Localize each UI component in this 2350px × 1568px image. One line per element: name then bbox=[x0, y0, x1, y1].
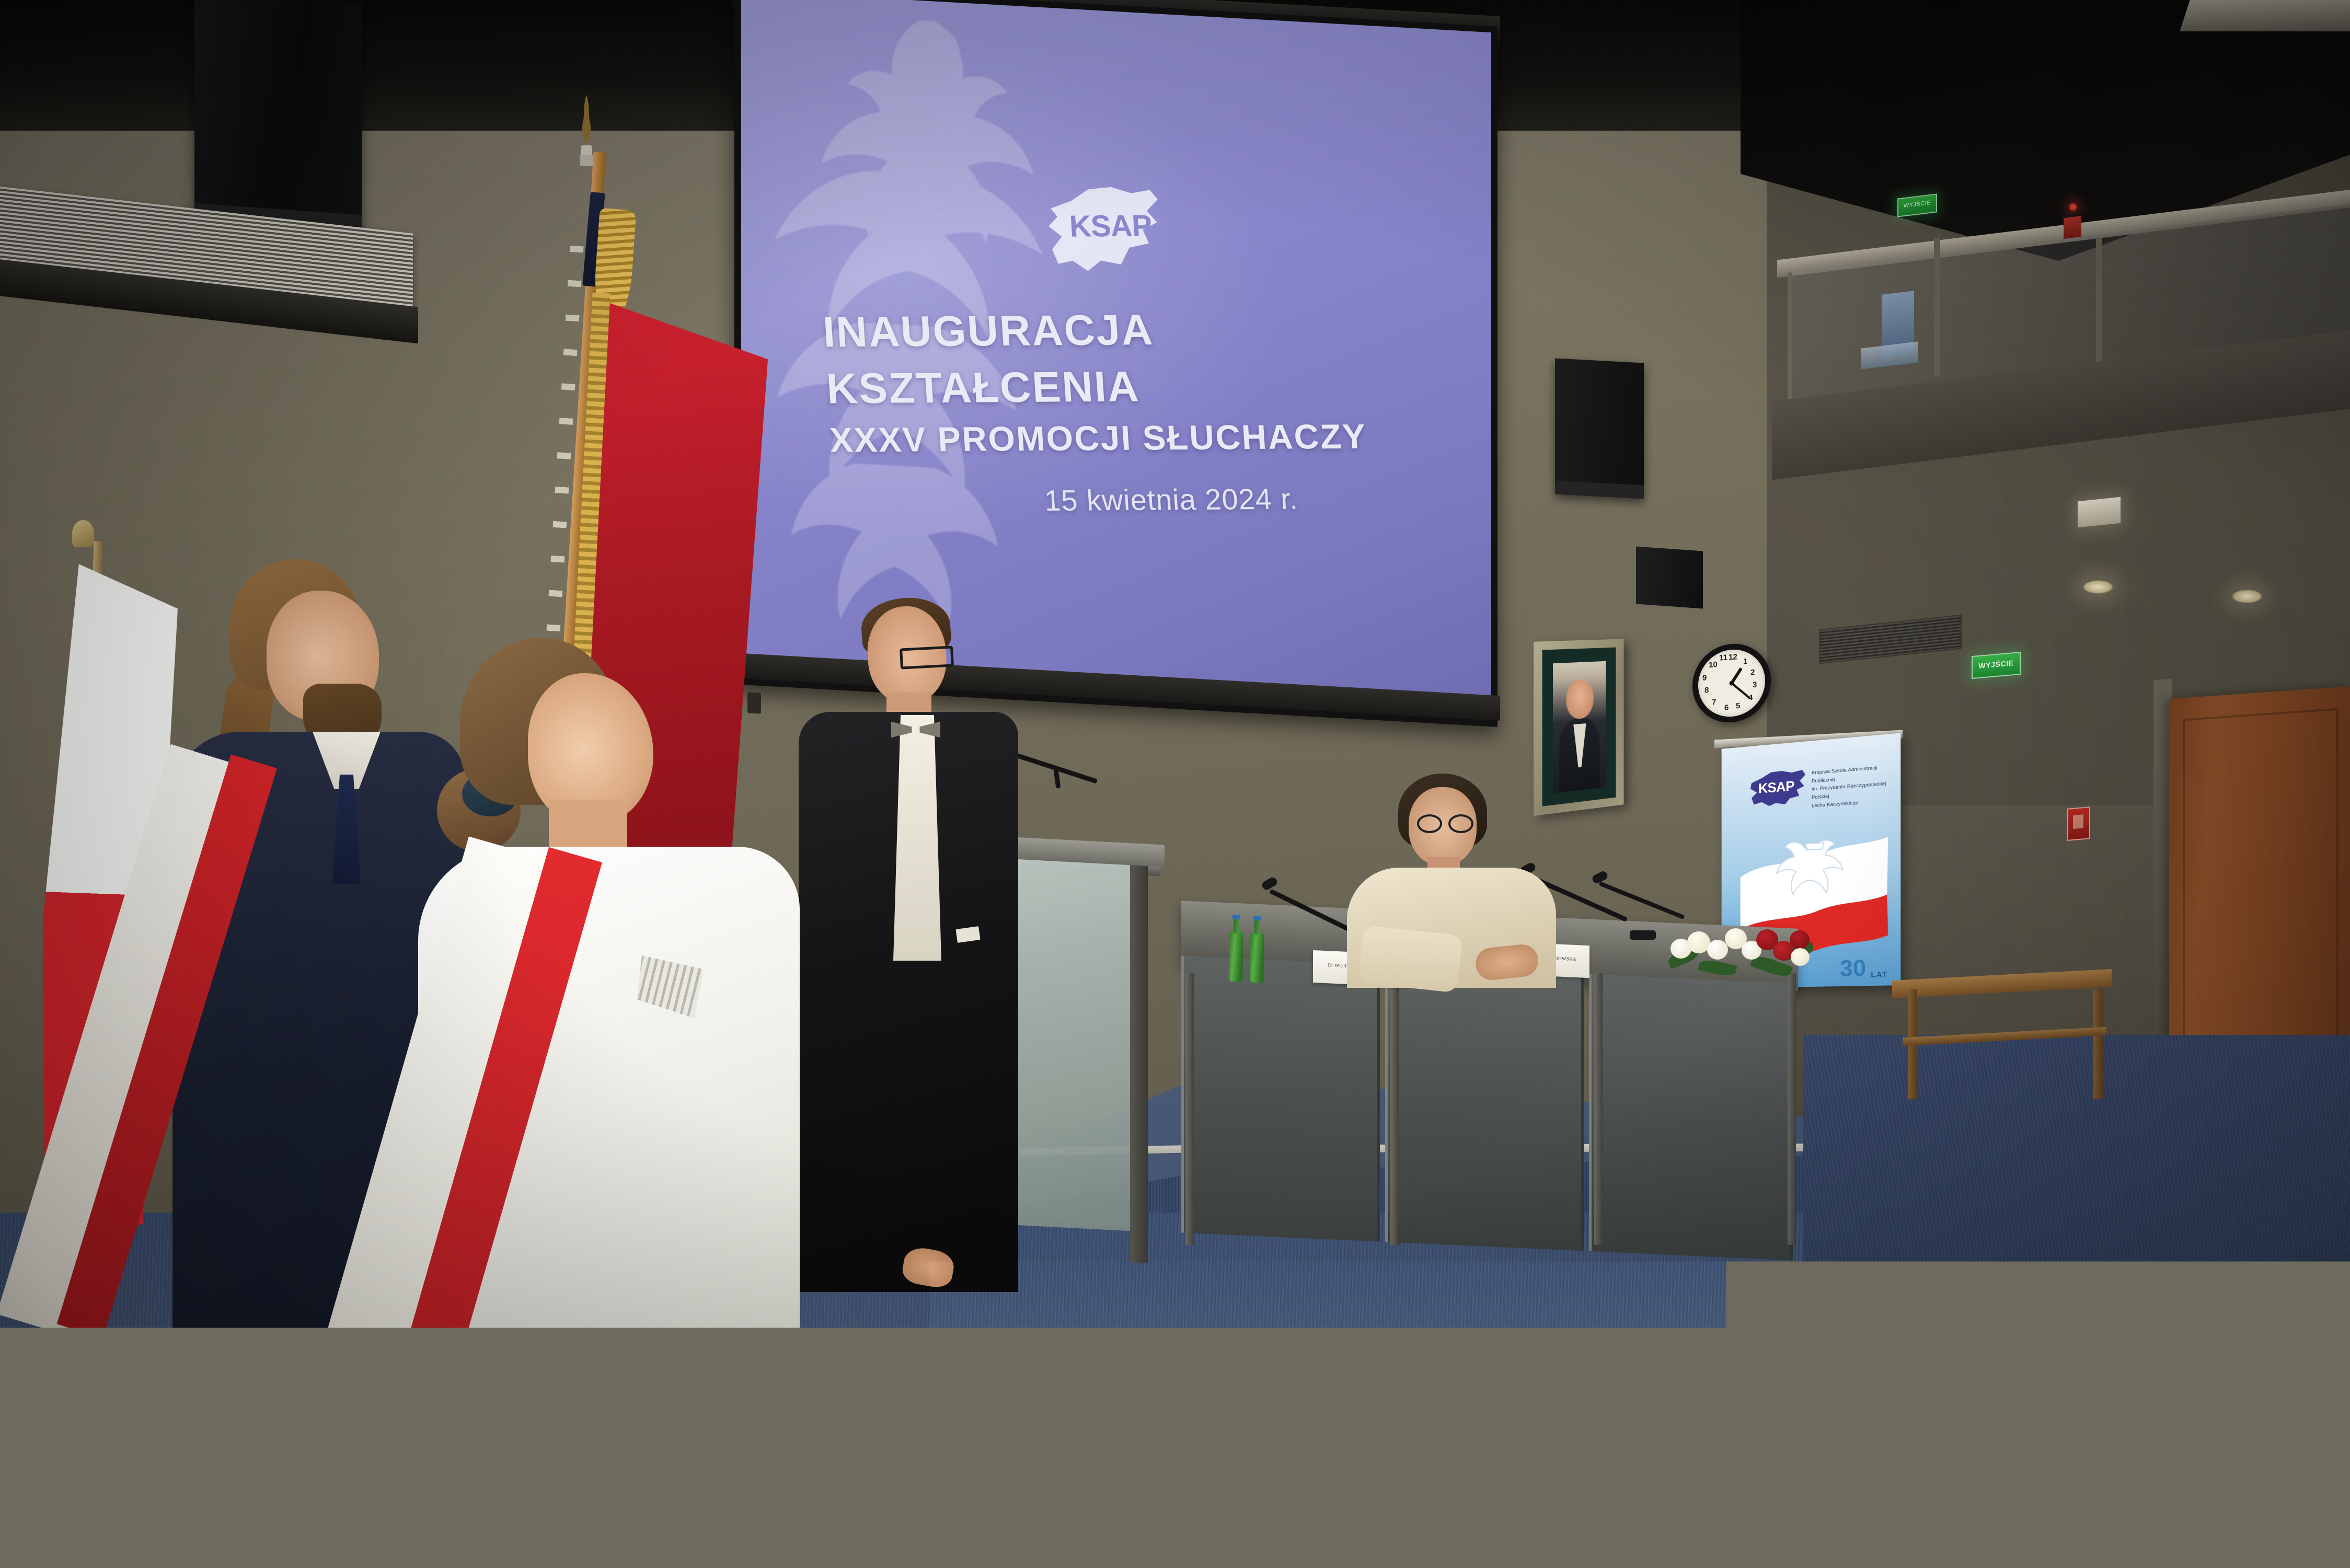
person-speaker-at-lectern bbox=[784, 601, 1030, 1291]
wall-speaker-left bbox=[194, 0, 362, 238]
person-panelist-seated bbox=[1335, 774, 1565, 983]
anniversary-number: 30 bbox=[1840, 955, 1866, 982]
rollup-banner-text: Krajowa Szkoła Administracji Publicznej … bbox=[1812, 763, 1892, 810]
arm bbox=[1358, 925, 1462, 993]
table-front-panel bbox=[1589, 974, 1793, 1261]
eyeglass-lens bbox=[1417, 814, 1442, 833]
fire-indicator-led bbox=[2069, 203, 2077, 211]
skirt bbox=[648, 1458, 821, 1568]
panel-table-front bbox=[1176, 955, 1798, 1261]
eyeglass-lens bbox=[1448, 814, 1473, 833]
conference-hall-photo: WYJŚCIE WYJŚCIE K bbox=[0, 0, 2350, 1568]
slide-content: KSAP INAUGURACJA KSZTAŁCENIA XXXV PROMOC… bbox=[741, 6, 1491, 687]
clock-numeral: 3 bbox=[1753, 681, 1757, 690]
table-front-panel bbox=[1181, 955, 1380, 1241]
white-rose bbox=[1707, 940, 1728, 960]
person-standard-bearer-female bbox=[418, 638, 815, 1568]
clock-numeral: 10 bbox=[1709, 660, 1718, 670]
svg-text:KSAP: KSAP bbox=[1758, 778, 1794, 796]
table-front-panel bbox=[1385, 965, 1584, 1251]
clock-numeral: 11 bbox=[1719, 653, 1727, 663]
clock-numeral: 12 bbox=[1729, 652, 1737, 662]
ceiling-light-strip bbox=[2180, 0, 2350, 31]
downlight bbox=[2232, 590, 2262, 603]
leaf bbox=[1698, 958, 1737, 978]
clock-minute-hand bbox=[1731, 682, 1751, 699]
anniversary-label: LAT bbox=[1871, 970, 1887, 979]
exit-sign-lower-label: WYJŚCIE bbox=[1973, 653, 2020, 676]
side-table-leg bbox=[2093, 989, 2103, 1100]
balcony-mullion bbox=[1934, 237, 1940, 376]
water-bottle[interactable] bbox=[1250, 932, 1264, 983]
table-leg bbox=[1390, 973, 1399, 1246]
flagpole-finial bbox=[72, 520, 94, 547]
portrait-head bbox=[1566, 679, 1594, 720]
table-leg bbox=[1788, 973, 1796, 1246]
clock-numeral: 6 bbox=[1724, 703, 1729, 712]
clock-numeral: 8 bbox=[1704, 686, 1709, 695]
slide-date: 15 kwietnia 2024 r. bbox=[1043, 482, 1299, 517]
slide-title-line1: INAUGURACJA KSZTAŁCENIA bbox=[821, 300, 1470, 418]
exit-sign-lower-icon: WYJŚCIE bbox=[1972, 652, 2021, 679]
table-leg bbox=[1185, 973, 1194, 1246]
box-light-fixture bbox=[2078, 497, 2121, 528]
svg-text:KSAP: KSAP bbox=[1068, 209, 1153, 244]
ksap-logo-icon: KSAP bbox=[1747, 766, 1808, 808]
lectern-leg bbox=[1130, 865, 1148, 1263]
clock-numeral: 7 bbox=[1712, 698, 1716, 707]
carpet-floor-right bbox=[1803, 1035, 2350, 1568]
flower-bouquet bbox=[1662, 914, 1819, 982]
eyeglasses bbox=[1417, 814, 1470, 830]
red-rose bbox=[1790, 930, 1810, 949]
clock-numeral: 9 bbox=[1702, 673, 1707, 683]
clock-numeral: 1 bbox=[1743, 657, 1747, 666]
slide-title: INAUGURACJA KSZTAŁCENIA XXXV PROMOCJI SŁ… bbox=[821, 300, 1473, 464]
wall-speaker-center bbox=[1555, 359, 1644, 499]
white-rose bbox=[1791, 948, 1810, 966]
fire-alarm-call-point-icon bbox=[2067, 806, 2090, 841]
eyeglasses bbox=[900, 645, 954, 669]
water-bottle[interactable] bbox=[1229, 931, 1243, 982]
flag-stand-base bbox=[31, 1411, 136, 1458]
balcony-mullion bbox=[2096, 237, 2102, 376]
downlight bbox=[2083, 580, 2113, 594]
microphone-base bbox=[1630, 930, 1656, 940]
fire-indicator-plate bbox=[2064, 216, 2081, 239]
slide-title-line2: XXXV PROMOCJI SŁUCHACZY bbox=[828, 413, 1473, 463]
exit-sign-upper-label: WYJŚCIE bbox=[1898, 195, 1936, 214]
table-leg bbox=[1594, 973, 1603, 1246]
ksap-logo-icon: KSAP bbox=[1038, 181, 1174, 279]
clock-numeral: 5 bbox=[1736, 701, 1740, 711]
wall-speaker-small bbox=[1636, 547, 1703, 609]
clock-numeral: 2 bbox=[1750, 668, 1755, 677]
